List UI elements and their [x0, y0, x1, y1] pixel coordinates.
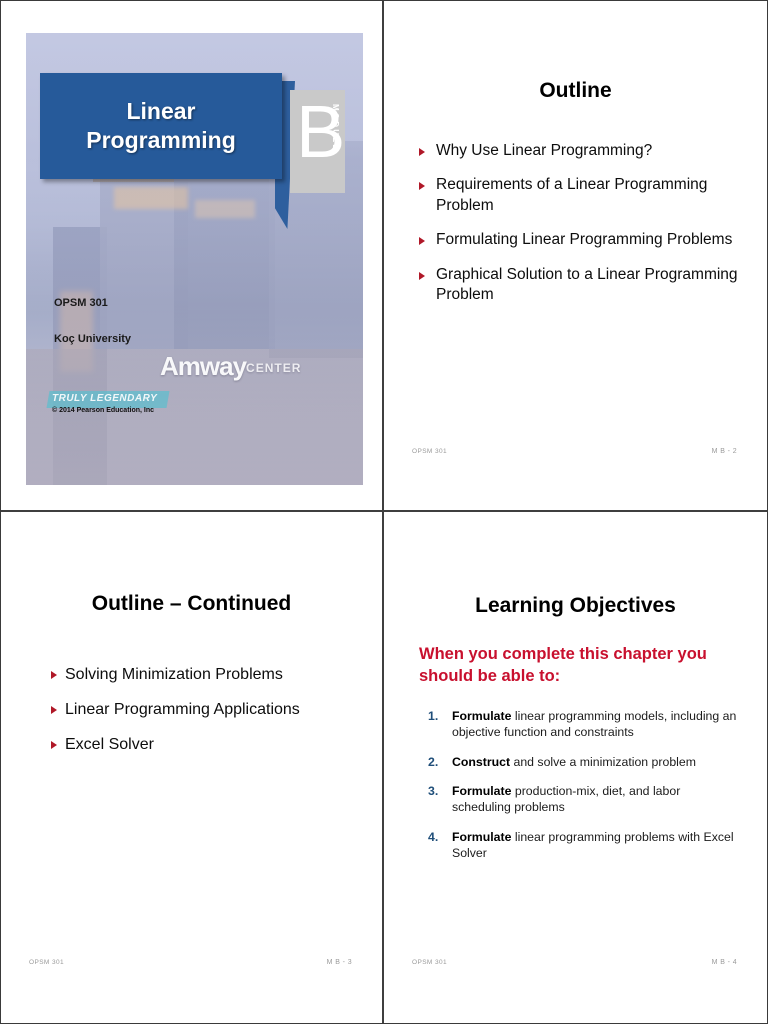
slide-outline-cell: Outline Why Use Linear Programming? Requ…	[384, 1, 767, 512]
list-item: Why Use Linear Programming?	[419, 141, 739, 161]
list-item: Graphical Solution to a Linear Programmi…	[419, 265, 739, 306]
list-item: Formulating Linear Programming Problems	[419, 230, 739, 250]
title-line-1: Linear	[86, 97, 236, 126]
title-slide-background-photo: B MODULE Linear Programming OPSM 301 Koç…	[26, 33, 363, 485]
module-label: MODULE	[331, 104, 340, 152]
title-line-2: Programming	[86, 126, 236, 155]
footer-course-code: OPSM 301	[412, 448, 447, 455]
amway-center-suffix: CENTER	[246, 361, 301, 375]
list-item: 3. Formulate production-mix, diet, and l…	[422, 783, 741, 816]
course-code: OPSM 301	[54, 297, 108, 309]
footer-course-code: OPSM 301	[29, 959, 64, 966]
footer-course-code: OPSM 301	[412, 959, 447, 966]
list-item: 1. Formulate linear programming models, …	[422, 708, 741, 741]
learning-objectives-list: 1. Formulate linear programming models, …	[422, 708, 741, 874]
list-item-text: and solve a minimization problem	[510, 755, 696, 769]
list-item-number: 4.	[428, 829, 438, 845]
slide-footer: OPSM 301 M B - 2	[384, 448, 767, 460]
legend-banner-text: TRULY LEGENDARY	[52, 393, 157, 404]
page-title: Learning Objectives	[384, 594, 767, 618]
list-item: Solving Minimization Problems	[51, 664, 358, 685]
list-item: 4. Formulate linear programming problems…	[422, 829, 741, 862]
footer-slide-number: M B - 4	[712, 959, 737, 966]
slide-title-box: Linear Programming	[40, 73, 282, 179]
list-item-keyword: Formulate	[452, 709, 511, 723]
list-item-number: 3.	[428, 783, 438, 799]
institution-name: Koç University	[54, 333, 131, 345]
list-item-keyword: Construct	[452, 755, 510, 769]
slide-footer: OPSM 301 M B - 3	[1, 959, 382, 971]
slide-footer: OPSM 301 M B - 4	[384, 959, 767, 971]
page-title: Outline – Continued	[1, 592, 382, 616]
list-item-number: 2.	[428, 754, 438, 770]
outline-bullet-list: Why Use Linear Programming? Requirements…	[419, 141, 739, 320]
learning-objectives-heading: When you complete this chapter you shoul…	[419, 644, 727, 688]
list-item-number: 1.	[428, 708, 438, 724]
slide-title-cell: B MODULE Linear Programming OPSM 301 Koç…	[1, 1, 384, 512]
footer-slide-number: M B - 3	[327, 959, 352, 966]
list-item: 2. Construct and solve a minimization pr…	[422, 754, 741, 770]
copyright-notice: © 2014 Pearson Education, Inc	[52, 407, 154, 414]
footer-slide-number: M B - 2	[712, 448, 737, 455]
outline-continued-bullet-list: Solving Minimization Problems Linear Pro…	[51, 664, 358, 769]
slide-grid: B MODULE Linear Programming OPSM 301 Koç…	[1, 1, 767, 1023]
slide-outline-continued-cell: Outline – Continued Solving Minimization…	[1, 512, 384, 1023]
list-item: Linear Programming Applications	[51, 699, 358, 720]
amway-wordmark: Amway	[160, 351, 246, 381]
list-item: Excel Solver	[51, 734, 358, 755]
list-item-keyword: Formulate	[452, 784, 511, 798]
handout-page: B MODULE Linear Programming OPSM 301 Koç…	[0, 0, 768, 1024]
page-title: Outline	[384, 79, 767, 103]
slide-learning-objectives-cell: Learning Objectives When you complete th…	[384, 512, 767, 1023]
list-item: Requirements of a Linear Programming Pro…	[419, 175, 739, 216]
list-item-keyword: Formulate	[452, 830, 511, 844]
module-badge: B MODULE	[290, 90, 345, 193]
amway-center-logo: AmwayCENTER	[160, 351, 301, 382]
